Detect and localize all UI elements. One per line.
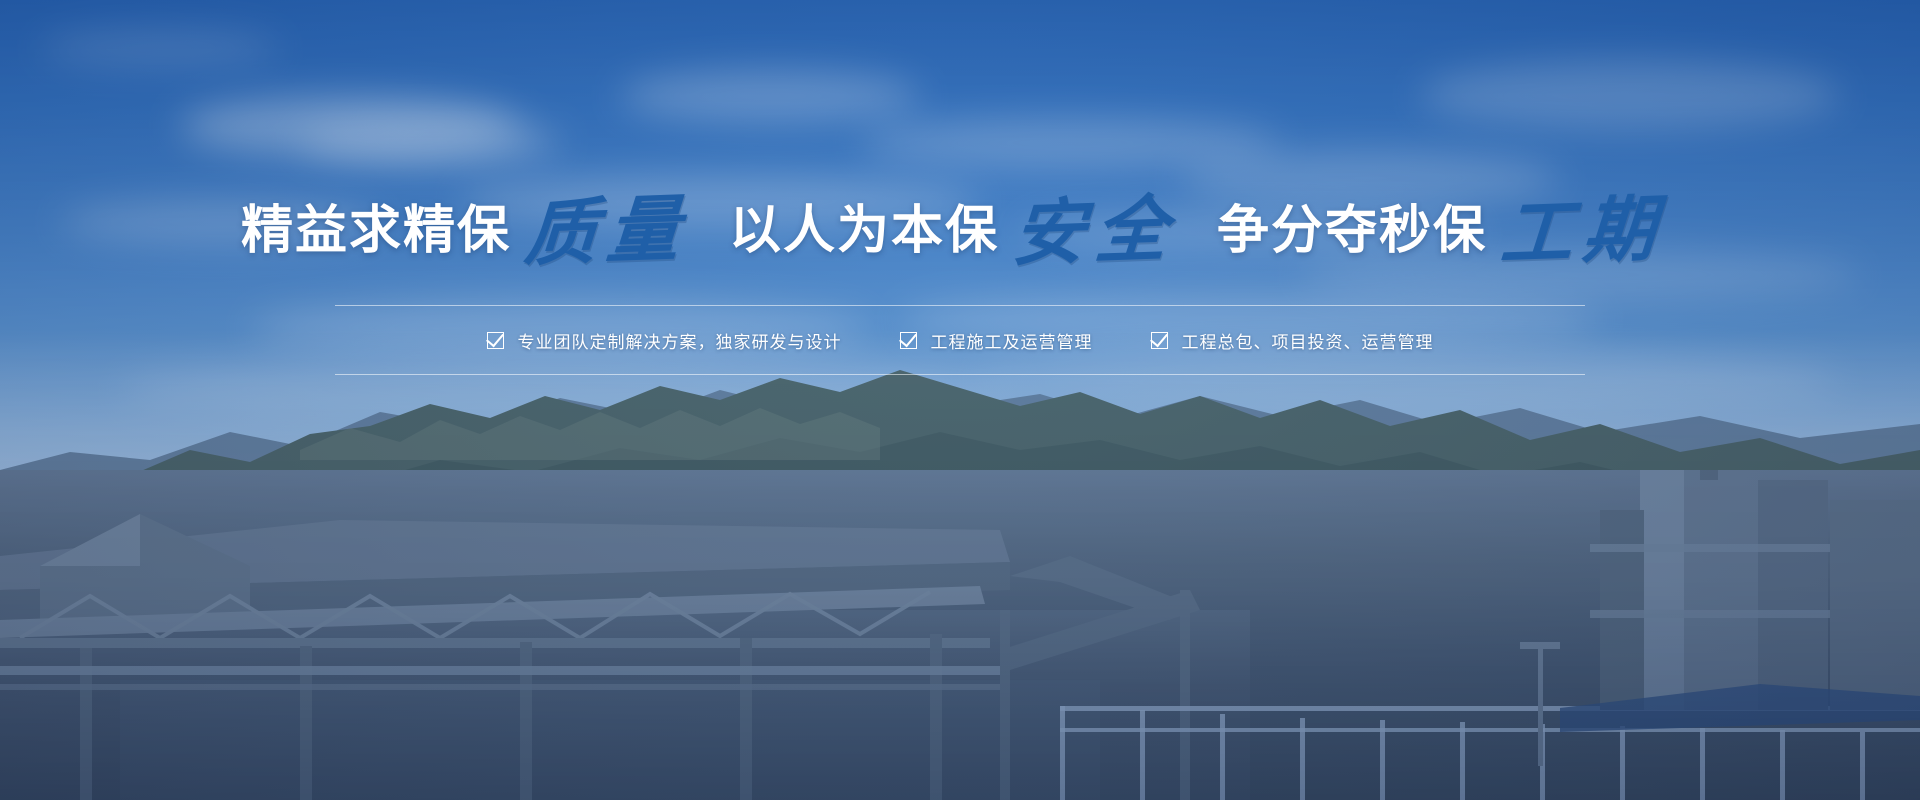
- feature-list-block: 专业团队定制解决方案，独家研发与设计 工程施工及运营管理 工程总包、项目投资、运…: [335, 305, 1585, 375]
- feature-item-3-label: 工程总包、项目投资、运营管理: [1182, 328, 1434, 353]
- checkbox-checked-icon: [487, 332, 504, 349]
- feature-list: 专业团队定制解决方案，独家研发与设计 工程施工及运营管理 工程总包、项目投资、运…: [335, 306, 1585, 374]
- feature-item-2[interactable]: 工程施工及运营管理: [900, 328, 1093, 353]
- banner-content: 精益求精保 质量 以人为本保 安全 争分夺秒保 工期 专业团队定制解决方案，独家…: [0, 0, 1920, 800]
- hero-banner: 精益求精保 质量 以人为本保 安全 争分夺秒保 工期 专业团队定制解决方案，独家…: [0, 0, 1920, 800]
- headline-callig-schedule: 工期: [1484, 192, 1682, 271]
- checkbox-checked-icon: [1151, 332, 1168, 349]
- headline-segment-2: 以人为本保: [729, 205, 999, 257]
- feature-item-1[interactable]: 专业团队定制解决方案，独家研发与设计: [487, 328, 842, 353]
- banner-headline: 精益求精保 质量 以人为本保 安全 争分夺秒保 工期: [241, 195, 1679, 267]
- headline-segment-3: 争分夺秒保: [1217, 205, 1487, 257]
- headline-segment-1: 精益求精保: [241, 205, 511, 257]
- feature-item-2-label: 工程施工及运营管理: [931, 328, 1093, 353]
- feature-item-3[interactable]: 工程总包、项目投资、运营管理: [1151, 328, 1434, 353]
- feature-item-1-label: 专业团队定制解决方案，独家研发与设计: [518, 328, 842, 353]
- divider-bottom: [335, 374, 1585, 375]
- headline-callig-safety: 安全: [996, 192, 1194, 271]
- checkbox-checked-icon: [900, 332, 917, 349]
- headline-callig-quality: 质量: [508, 192, 706, 271]
